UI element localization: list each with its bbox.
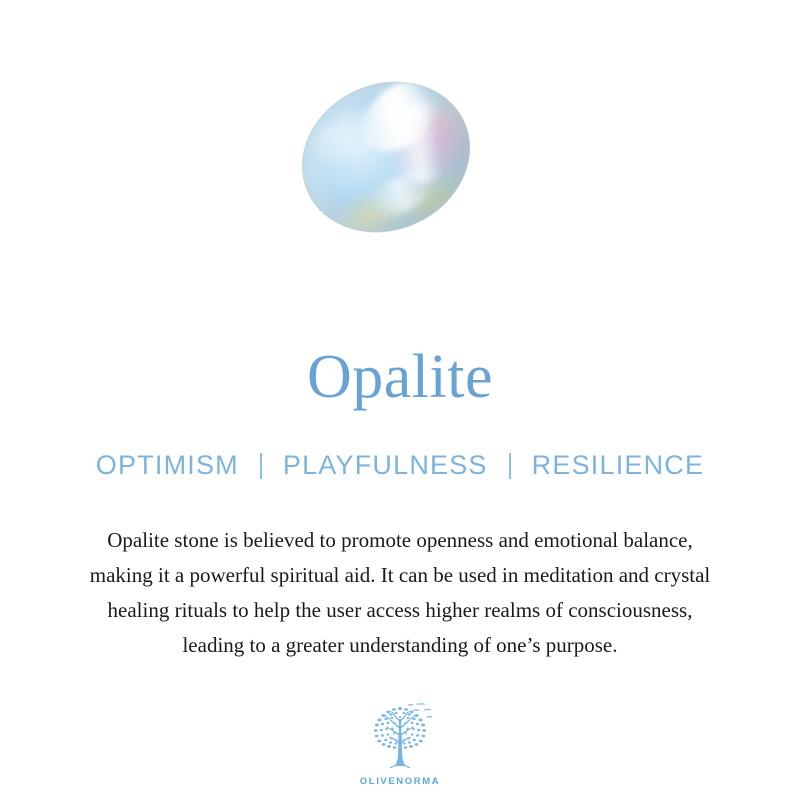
keyword-playfulness: PLAYFULNESS [283,450,488,481]
stone-rim [278,55,495,258]
opalite-info-card: Opalite OPTIMISM PLAYFULNESS RESILIENCE … [0,0,800,800]
page-title: Opalite [307,346,493,408]
hero-image-area [0,0,800,300]
description-paragraph: Opalite stone is believed to promote ope… [20,523,780,663]
tree-icon [360,699,440,773]
keyword-separator-icon [509,453,511,479]
keyword-separator-icon [260,453,262,479]
description-line: Opalite stone is believed to promote ope… [20,523,780,558]
keyword-optimism: OPTIMISM [96,450,239,481]
brand-logo: OLIVENORMA [360,699,440,787]
description-line: making it a powerful spiritual aid. It c… [20,558,780,593]
opalite-stone-image [278,55,495,258]
keyword-list: OPTIMISM PLAYFULNESS RESILIENCE [96,450,704,481]
brand-wordmark: OLIVENORMA [360,776,440,787]
description-line: healing rituals to help the user access … [20,593,780,628]
description-line: leading to a greater understanding of on… [20,628,780,663]
keyword-resilience: RESILIENCE [532,450,705,481]
